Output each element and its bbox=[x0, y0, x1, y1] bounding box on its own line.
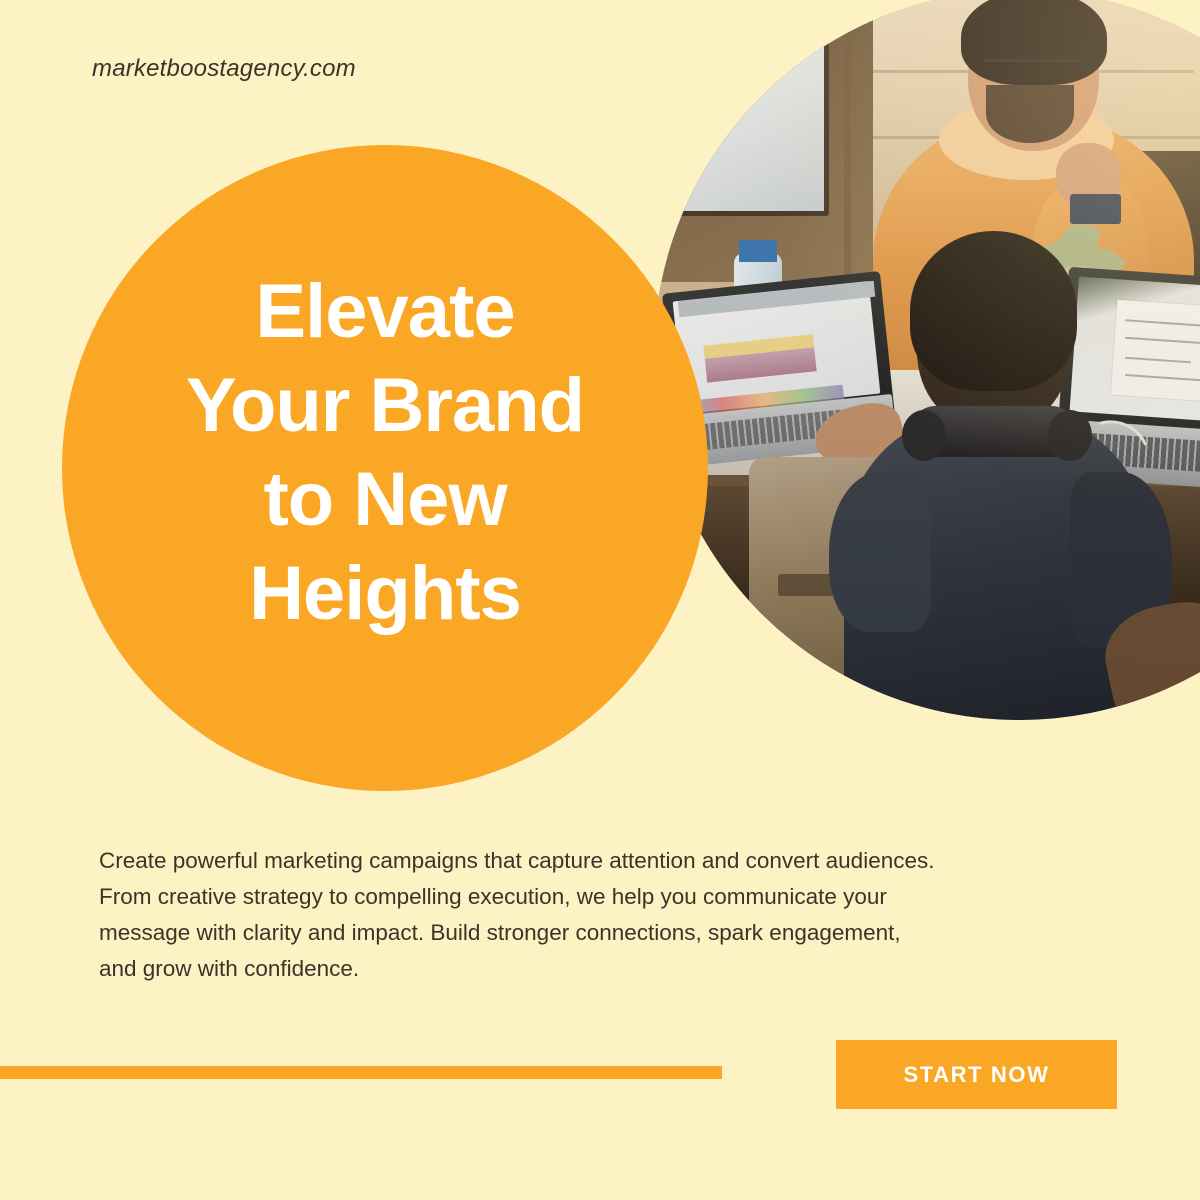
photo-person-hair bbox=[961, 0, 1107, 85]
photo-foreground-hair bbox=[910, 231, 1078, 392]
headline-line-3: to New bbox=[62, 453, 708, 547]
body-paragraph: Create powerful marketing campaigns that… bbox=[99, 843, 939, 987]
photo-person-watch bbox=[1070, 194, 1121, 223]
hero-photo-circle bbox=[654, 0, 1200, 720]
headline-line-2: Your Brand bbox=[62, 359, 708, 453]
promo-poster: marketboostagency.com bbox=[0, 0, 1200, 1200]
start-now-button[interactable]: START NOW bbox=[836, 1040, 1117, 1109]
photo-foreground-shoulder bbox=[829, 472, 931, 633]
page-title: Elevate Your Brand to New Heights bbox=[62, 265, 708, 641]
footer-divider-rule bbox=[0, 1066, 722, 1079]
hero-photo bbox=[654, 0, 1200, 720]
photo-window bbox=[676, 27, 829, 217]
website-url[interactable]: marketboostagency.com bbox=[92, 55, 356, 83]
photo-person-beard bbox=[986, 85, 1074, 143]
photo-person-glasses bbox=[983, 59, 1082, 62]
photo-bottle-cap bbox=[739, 240, 777, 262]
photo-laptop-right-document bbox=[1111, 300, 1200, 403]
photo-headphone-earcup bbox=[902, 410, 946, 461]
headline-line-4: Heights bbox=[62, 547, 708, 641]
photo-door-frame bbox=[844, 0, 851, 282]
headline-line-1: Elevate bbox=[62, 265, 708, 359]
